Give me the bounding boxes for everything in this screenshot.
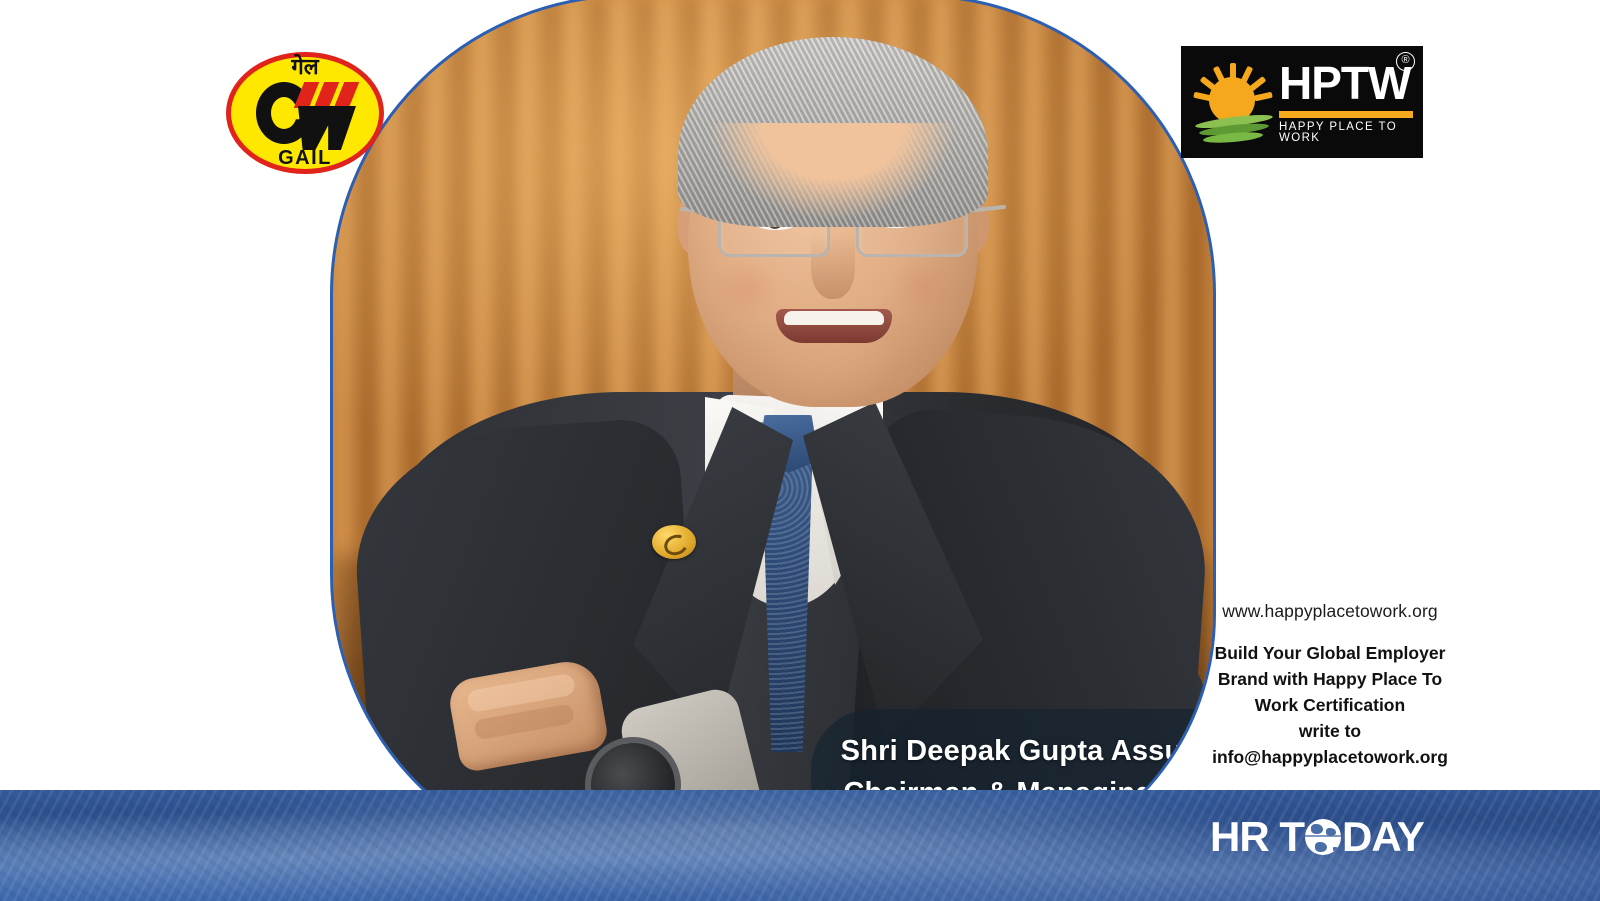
teeth	[784, 311, 884, 325]
pitch-text: Build Your Global Employer Brand with Ha…	[1190, 641, 1470, 770]
hptw-logo: HPTW HAPPY PLACE TO WORK ®	[1181, 46, 1423, 158]
portrait-photo-panel: Shri Deepak Gupta Assumes Charge as Chai…	[330, 0, 1216, 874]
contact-email[interactable]: info@happyplacetowork.org	[1190, 745, 1470, 771]
hptw-logo-wordmark: HPTW	[1279, 60, 1413, 106]
globe-icon	[1305, 819, 1341, 855]
cheek-right	[889, 257, 959, 317]
website-url[interactable]: www.happyplacetowork.org	[1190, 598, 1470, 624]
bottom-banner: HR T DAY	[0, 790, 1600, 901]
poster-canvas: Shri Deepak Gupta Assumes Charge as Chai…	[0, 0, 1600, 901]
mouth	[776, 309, 892, 343]
hair	[678, 37, 988, 227]
gail-logo-wordmark: GAIL	[226, 148, 384, 168]
lapel-pin-icon	[652, 525, 696, 559]
registered-trademark-icon: ®	[1396, 52, 1415, 71]
headline-line-1: Shri Deepak Gupta Assumes Charge as	[841, 731, 1216, 773]
pitch-line-2: Brand with Happy Place To	[1190, 667, 1470, 693]
hptw-sunrise-icon	[1187, 57, 1279, 147]
gail-logo: गेल GAIL	[226, 52, 384, 174]
hr-today-prefix: HR T	[1210, 816, 1304, 858]
hptw-logo-rule	[1279, 111, 1413, 118]
hr-today-logo[interactable]: HR T DAY	[1210, 816, 1424, 858]
hptw-logo-text: HPTW HAPPY PLACE TO WORK	[1279, 60, 1423, 145]
hptw-logo-tagline: HAPPY PLACE TO WORK	[1279, 122, 1413, 145]
cheek-left	[711, 259, 781, 319]
pitch-line-3: Work Certification	[1190, 693, 1470, 719]
hr-today-suffix: DAY	[1342, 816, 1424, 858]
pitch-line-1: Build Your Global Employer	[1190, 641, 1470, 667]
side-copy-block: www.happyplacetowork.org Build Your Glob…	[1190, 598, 1470, 771]
gail-logo-hindi-text: गेल	[226, 57, 384, 79]
pitch-line-4: write to	[1190, 719, 1470, 745]
